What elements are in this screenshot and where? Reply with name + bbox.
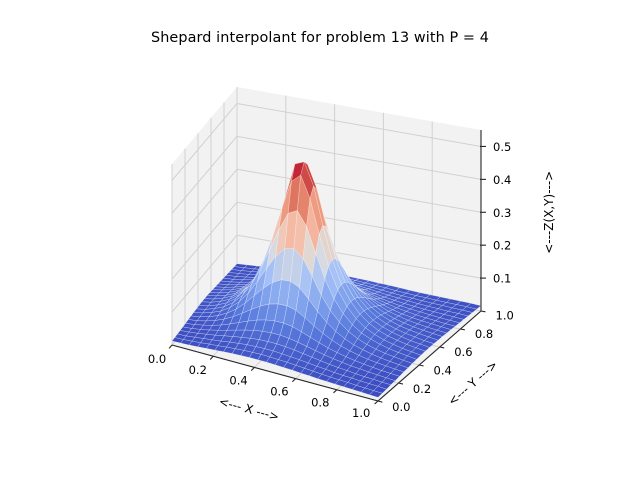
z-tick-label: 0.3 (493, 206, 511, 220)
x-tickmark (375, 401, 378, 404)
x-tick-label: 1.0 (352, 406, 370, 420)
z-tick-label: 0.4 (493, 173, 511, 187)
y-tick-label: 1.0 (496, 308, 514, 322)
y-tickmark (481, 311, 485, 312)
y-tickmark (378, 401, 382, 402)
x-axis-label: <--- X ---> (217, 394, 280, 424)
z-tick-label: 0.1 (493, 272, 511, 286)
y-tick-label: 0.4 (434, 363, 452, 377)
y-tickmark (399, 383, 403, 384)
surface-plot-3d-axes[interactable]: 0.00.20.40.60.81.00.00.20.40.60.81.00.10… (0, 0, 640, 480)
x-tick-label: 0.6 (270, 384, 288, 398)
y-tick-label: 0.0 (392, 400, 410, 414)
x-tickmark (333, 390, 336, 393)
z-tick-label: 0.5 (493, 140, 511, 154)
figure-canvas: Shepard interpolant for problem 13 with … (0, 0, 640, 480)
y-tick-label: 0.6 (454, 345, 472, 359)
y-tickmark (419, 365, 423, 366)
x-tick-label: 0.8 (311, 395, 329, 409)
x-tick-label: 0.2 (189, 363, 207, 377)
x-tickmark (210, 356, 213, 359)
x-tickmark (251, 367, 254, 370)
z-tick-label: 0.2 (493, 239, 511, 253)
x-tick-label: 0.0 (148, 352, 166, 366)
x-tick-label: 0.4 (229, 374, 247, 388)
y-tickmark (460, 329, 464, 330)
z-axis-label: <---Z(X,Y)---> (542, 171, 556, 254)
x-tickmark (292, 379, 295, 382)
x-tickmark (169, 345, 172, 348)
y-tick-label: 0.8 (475, 327, 493, 341)
y-axis-label: <--- Y ---> (445, 358, 500, 409)
y-tickmark (440, 347, 444, 348)
y-tick-label: 0.2 (413, 382, 431, 396)
